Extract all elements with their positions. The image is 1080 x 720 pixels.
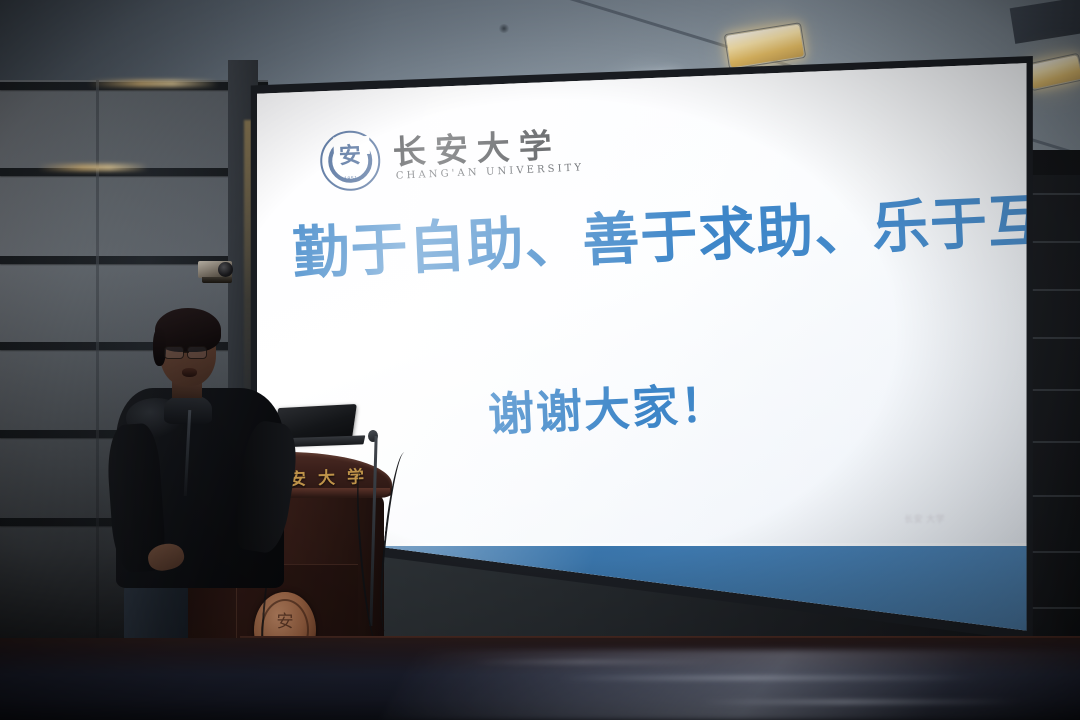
- ceiling-light-warm-2: [1028, 55, 1080, 89]
- eyeglasses-icon: [164, 346, 184, 359]
- university-emblem-icon: 安 1951: [319, 129, 382, 192]
- slide-headline: 勤于自助、善于求助、乐于互助。: [291, 193, 1008, 285]
- logo-wordmark: 长安大学 CHANG'AN UNIVERSITY: [392, 127, 584, 181]
- presenter-mouth: [182, 368, 197, 377]
- emblem-year: 1951: [323, 174, 379, 182]
- emblem-character: 安: [321, 143, 378, 167]
- camera-lens-icon: [218, 262, 233, 277]
- floor-light-streak: [469, 660, 721, 664]
- lecture-hall-photo: 安 1951 长安大学 CHANG'AN UNIVERSITY 勤于自助、善于求…: [0, 0, 1080, 720]
- camera-mount: [202, 277, 232, 283]
- wall-mounted-camera: [198, 258, 238, 284]
- ceiling-light-warm-1: [726, 24, 804, 67]
- ceiling-vent: [498, 24, 510, 33]
- slide-subline: 谢谢大家！: [248, 366, 1036, 452]
- floor-light-streak: [559, 676, 981, 680]
- floor-light-streak: [699, 700, 1021, 704]
- eyeglasses-bridge: [183, 351, 189, 353]
- eyeglasses-icon: [187, 346, 207, 359]
- slide-faint-watermark: 长安 大学: [904, 514, 945, 525]
- university-logo: 安 1951 长安大学 CHANG'AN UNIVERSITY: [319, 120, 585, 192]
